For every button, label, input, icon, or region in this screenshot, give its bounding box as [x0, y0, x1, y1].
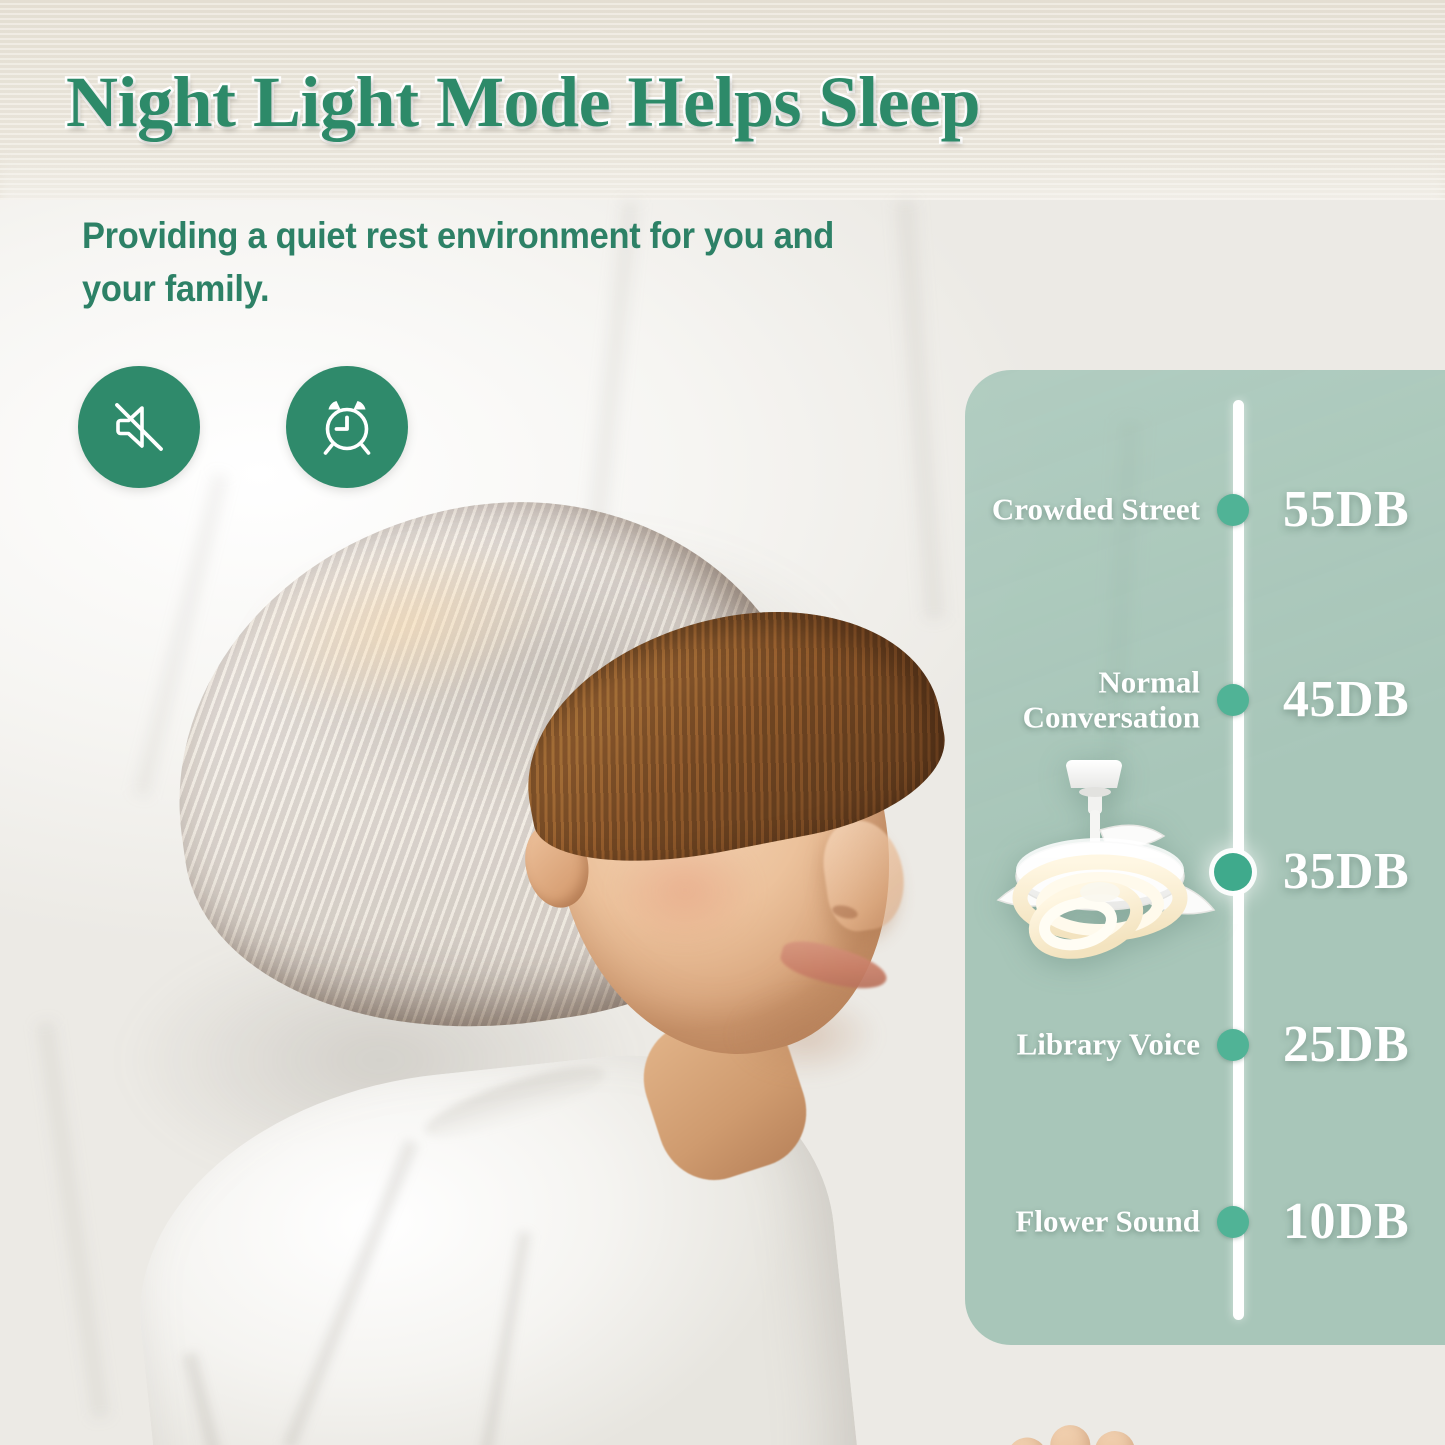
db-row-dot	[1217, 494, 1249, 526]
finger	[1049, 1424, 1097, 1445]
alarm-clock-icon	[315, 395, 379, 459]
mute-speaker-icon	[108, 396, 170, 458]
page-title: Night Light Mode Helps Sleep	[66, 66, 980, 138]
badge-mute[interactable]	[78, 366, 200, 488]
db-row-dot	[1217, 684, 1249, 716]
product-feature-poster: Night Light Mode Helps Sleep Providing a…	[0, 0, 1445, 1445]
db-row-value: 10DB	[1283, 1196, 1409, 1248]
db-row-label: Crowded Street	[900, 493, 1200, 528]
db-row-dot-active	[1214, 853, 1252, 891]
db-row-value: 55DB	[1283, 484, 1409, 536]
finger	[1090, 1430, 1136, 1445]
db-row-value: 25DB	[1283, 1019, 1409, 1071]
sleeping-child	[90, 470, 1020, 1445]
db-row-label: Library Voice	[900, 1028, 1200, 1063]
db-row-dot	[1217, 1029, 1249, 1061]
page-subtitle: Providing a quiet rest environment for y…	[82, 210, 845, 315]
db-row-value: 45DB	[1283, 674, 1409, 726]
chin-shadow	[730, 990, 880, 1080]
child-hand	[995, 1425, 1185, 1445]
db-row-value: 35DB	[1283, 846, 1409, 898]
teddy-bear	[450, 1430, 1010, 1445]
db-row-label: Normal Conversation	[900, 665, 1200, 734]
feature-badges	[78, 366, 408, 488]
badge-timer[interactable]	[286, 366, 408, 488]
db-row-label: Flower Sound	[900, 1205, 1200, 1240]
db-row-dot	[1217, 1206, 1249, 1238]
ceiling-fan-product-image	[960, 752, 1240, 977]
